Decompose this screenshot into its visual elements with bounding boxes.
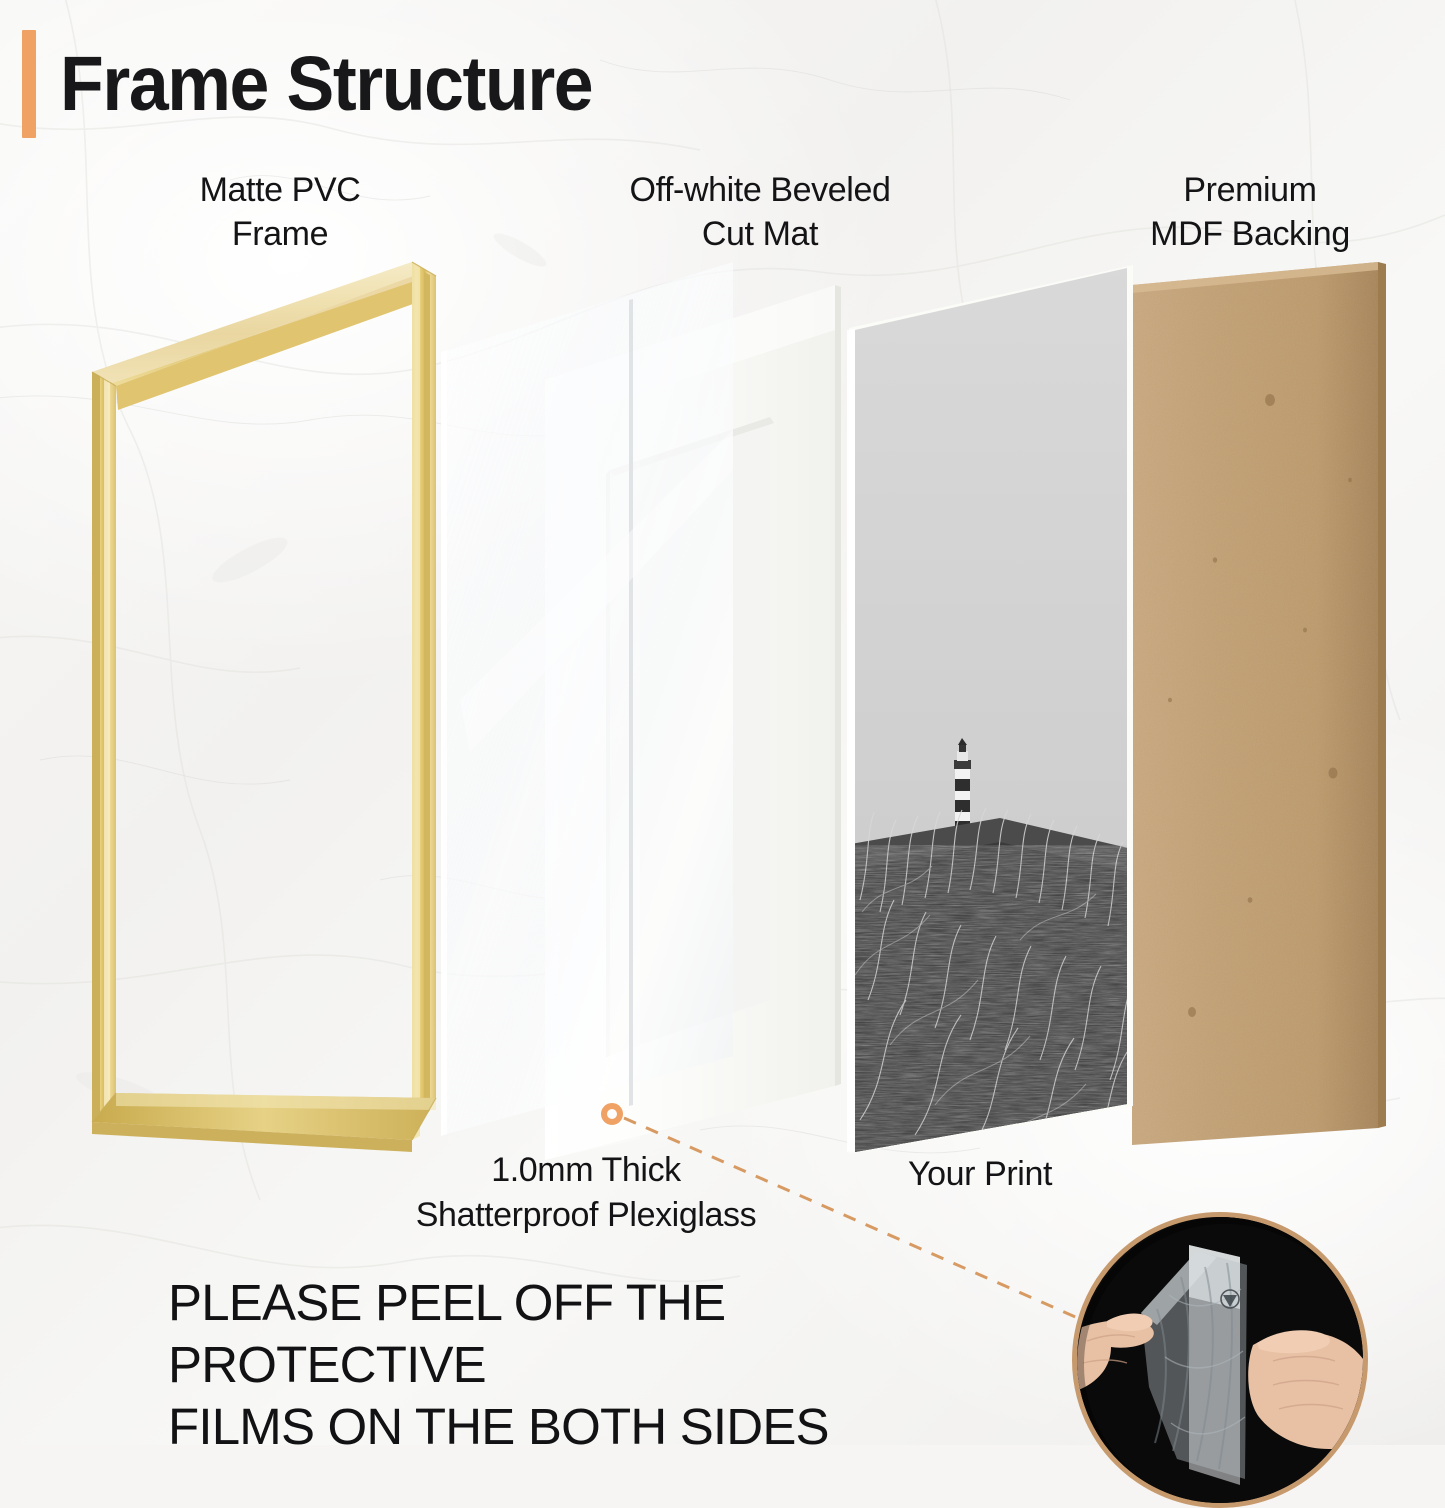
label-plexiglass: 1.0mm Thick Shatterproof Plexiglass: [276, 1148, 896, 1238]
label-line-2: Shatterproof Plexiglass: [276, 1193, 896, 1238]
layer-mdf-backing: [1132, 262, 1386, 1145]
label-your-print: Your Print: [830, 1152, 1130, 1197]
page-title: Frame Structure: [60, 46, 592, 123]
warning-line-2-prefix: FILMS ON THE: [168, 1398, 528, 1455]
label-line-2: Frame: [120, 212, 440, 256]
layer-plexiglass: [441, 262, 733, 1136]
label-line-1: Your Print: [830, 1152, 1130, 1197]
label-cut-mat: Off-white Beveled Cut Mat: [540, 168, 980, 256]
warning-line-1: PLEASE PEEL OFF THE PROTECTIVE: [168, 1272, 1048, 1396]
layer-print: [845, 255, 1145, 1165]
marble-background: Frame Structure Matte PVC Frame Off-whit…: [0, 0, 1445, 1445]
label-line-1: 1.0mm Thick: [276, 1148, 896, 1193]
label-mdf-backing: Premium MDF Backing: [1060, 168, 1440, 256]
page-header: Frame Structure: [22, 30, 632, 138]
label-line-2: Cut Mat: [540, 212, 980, 256]
layer-pvc-frame: [92, 262, 436, 1152]
label-line-1: Off-white Beveled: [540, 168, 980, 212]
warning-line-2: FILMS ON THE BOTH SIDES: [168, 1396, 829, 1458]
print-photo: [845, 255, 1145, 1165]
warning-line-2-highlight: BOTH SIDES: [528, 1398, 829, 1455]
peel-film-warning: PLEASE PEEL OFF THE PROTECTIVE FILMS ON …: [168, 1272, 1048, 1459]
label-line-1: Matte PVC: [120, 168, 440, 212]
accent-bar: [22, 30, 36, 138]
callout-marker-dot: [601, 1103, 623, 1125]
label-line-1: Premium: [1060, 168, 1440, 212]
label-line-2: MDF Backing: [1060, 212, 1440, 256]
label-pvc-frame: Matte PVC Frame: [120, 168, 440, 256]
peel-film-inset-photo: [1072, 1212, 1368, 1508]
